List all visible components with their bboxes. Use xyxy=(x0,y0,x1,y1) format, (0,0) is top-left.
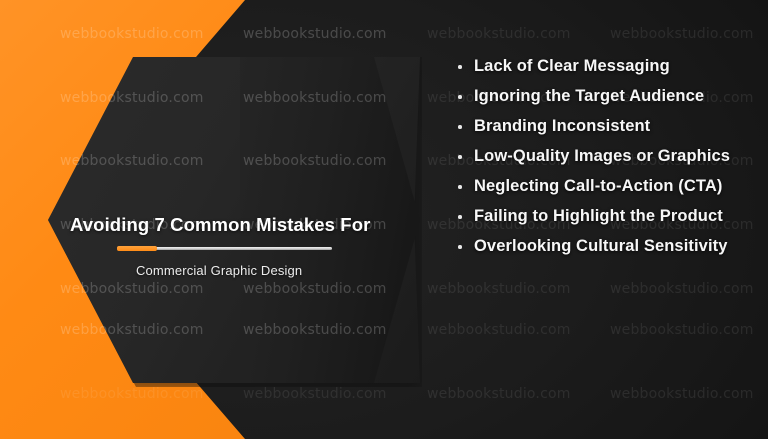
list-item: Neglecting Call-to-Action (CTA) xyxy=(452,172,752,201)
list-item: Ignoring the Target Audience xyxy=(452,82,752,111)
list-item: Lack of Clear Messaging xyxy=(452,52,752,81)
title-block: Avoiding 7 Common Mistakes For Commercia… xyxy=(70,214,390,278)
divider-accent-segment xyxy=(117,246,157,251)
list-item: Overlooking Cultural Sensitivity xyxy=(452,232,752,261)
mistakes-bullet-list: Lack of Clear MessagingIgnoring the Targ… xyxy=(452,52,752,262)
page-title: Avoiding 7 Common Mistakes For xyxy=(70,214,390,236)
list-item: Failing to Highlight the Product xyxy=(452,202,752,231)
page-subtitle: Commercial Graphic Design xyxy=(136,263,390,278)
slide-canvas: webbookstudio.comwebbookstudio.comwebboo… xyxy=(0,0,768,439)
list-item: Branding Inconsistent xyxy=(452,112,752,141)
list-item: Low-Quality Images or Graphics xyxy=(452,142,752,171)
title-divider xyxy=(117,246,332,251)
